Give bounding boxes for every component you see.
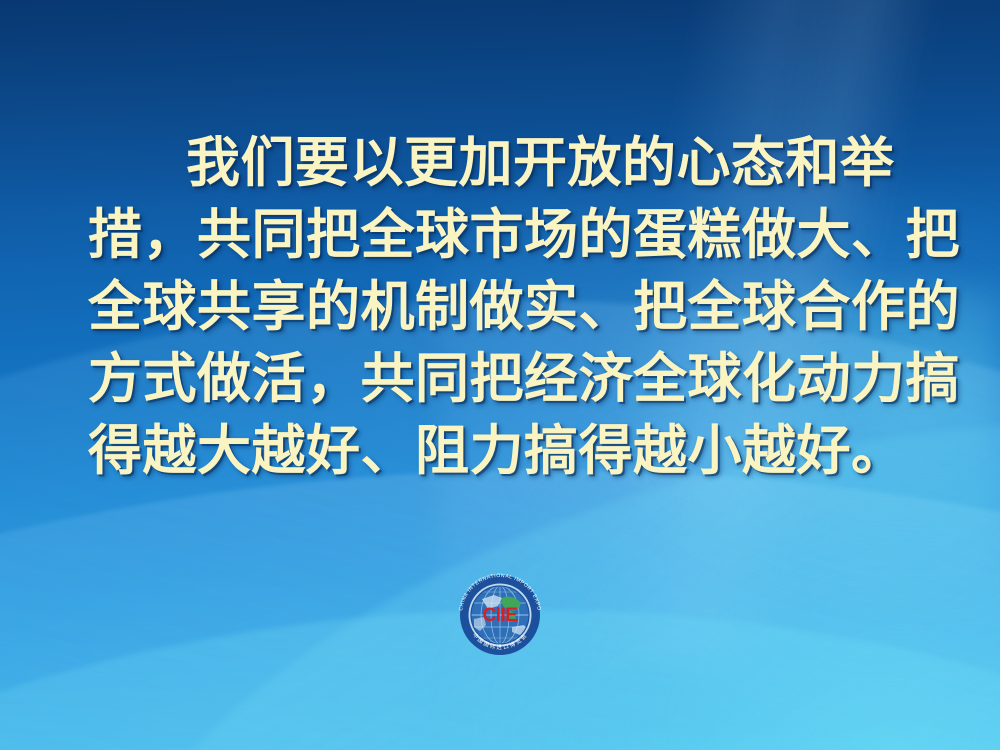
poster-canvas: 我们要以更加开放的心态和举 措，共同把全球市场的蛋糕做大、把 全球共享的机制做实… (0, 0, 1000, 750)
ciie-logo: CHINA INTERNATIONAL IMPORT EXPO 中国国际进口博览… (450, 565, 550, 665)
quote-line-4: 方式做活，共同把经济全球化动力搞 (0, 342, 1000, 414)
ciie-logo-icon: CHINA INTERNATIONAL IMPORT EXPO 中国国际进口博览… (450, 565, 550, 665)
quote-line-5: 得越大越好、阻力搞得越小越好。 (0, 414, 1000, 486)
quote-line-2: 措，共同把全球市场的蛋糕做大、把 (0, 198, 1000, 270)
quote-line-3: 全球共享的机制做实、把全球合作的 (0, 270, 1000, 342)
quote-block: 我们要以更加开放的心态和举 措，共同把全球市场的蛋糕做大、把 全球共享的机制做实… (0, 126, 1000, 486)
quote-line-1: 我们要以更加开放的心态和举 (0, 126, 1000, 198)
logo-acronym: CIIE (483, 605, 518, 626)
